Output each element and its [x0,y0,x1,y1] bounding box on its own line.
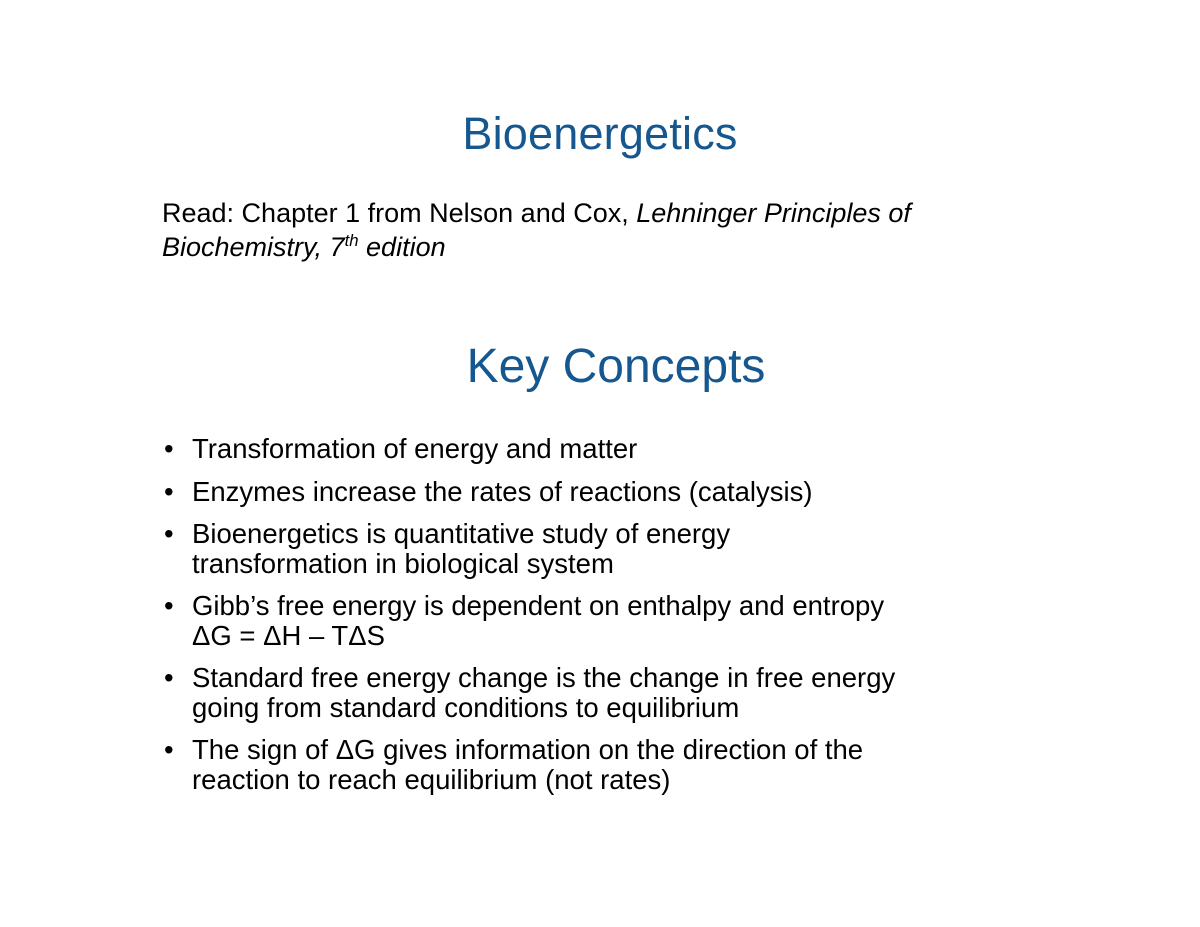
bullet-marker-icon: • [164,477,178,507]
list-item-line: The sign of ΔG gives information on the … [192,735,1078,765]
bullet-marker-icon: • [164,591,178,621]
bullet-marker-icon: • [164,434,178,464]
list-item-line: reaction to reach equilibrium (not rates… [192,765,1078,795]
page-title: Bioenergetics [0,108,1200,160]
list-item-line: Transformation of energy and matter [192,434,1078,464]
key-concepts-list: • Transformation of energy and matter • … [158,434,1078,794]
bullet-marker-icon: • [164,735,178,765]
list-item-line: Bioenergetics is quantitative study of e… [192,519,1078,549]
list-item-line: transformation in biological system [192,549,1078,579]
list-item: • Standard free energy change is the cha… [158,663,1078,722]
list-item: • Enzymes increase the rates of reaction… [158,477,1078,507]
reading-edition-ordinal-suffix: th [345,231,359,250]
bullet-marker-icon: • [164,519,178,549]
bullet-marker-icon: • [164,663,178,693]
list-item: • Bioenergetics is quantitative study of… [158,519,1078,578]
section-heading-key-concepts: Key Concepts [0,338,1200,396]
reading-assignment: Read: Chapter 1 from Nelson and Cox, Leh… [162,196,1042,264]
list-item-line: going from standard conditions to equili… [192,693,1078,723]
list-item-line: Enzymes increase the rates of reactions … [192,477,1078,507]
list-item: • The sign of ΔG gives information on th… [158,735,1078,794]
list-item: • Gibb’s free energy is dependent on ent… [158,591,1078,650]
list-item: • Transformation of energy and matter [158,434,1078,464]
slide-canvas: Bioenergetics Read: Chapter 1 from Nelso… [0,0,1200,927]
list-item-line: Standard free energy change is the chang… [192,663,1078,693]
list-item-line: Gibb’s free energy is dependent on entha… [192,591,1078,621]
reading-book-title-part2: edition [359,232,446,262]
gibbs-free-energy-equation: ΔG = ΔH – TΔS [192,621,1078,651]
reading-prefix: Read: Chapter 1 from Nelson and Cox, [162,198,636,228]
